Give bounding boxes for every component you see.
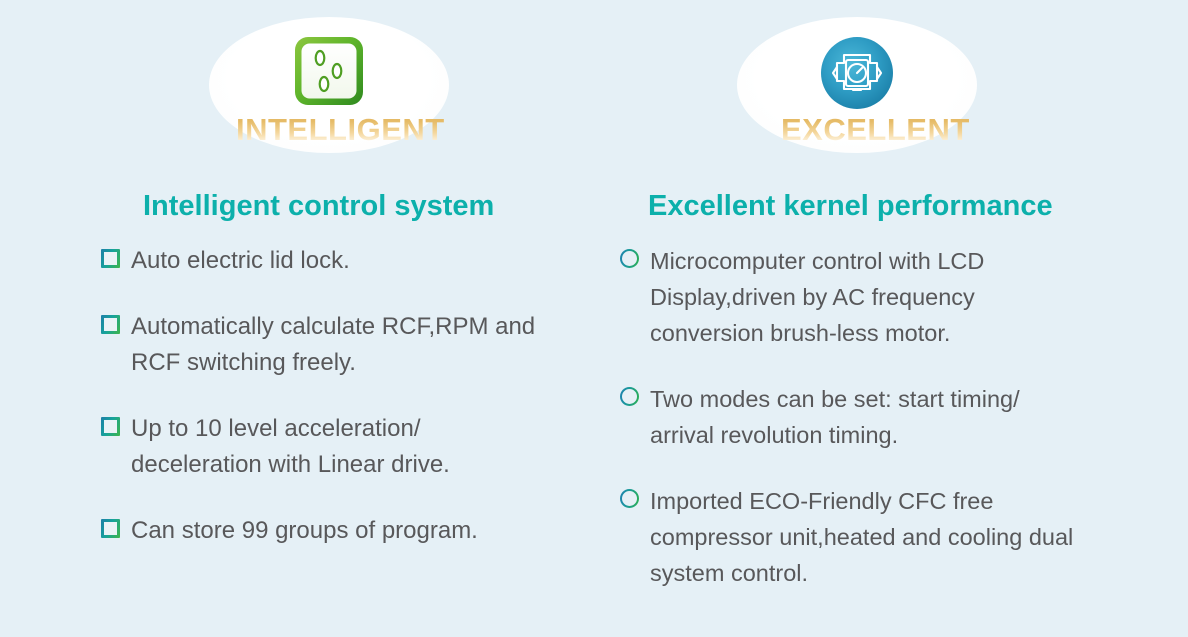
list-item: Auto electric lid lock.	[101, 243, 551, 279]
list-item: Two modes can be set: start timing/ arri…	[620, 381, 1090, 453]
feature-column-excellent: EXCELLENT Excellent kernel performance M…	[594, 0, 1188, 637]
circle-bullet-icon	[620, 249, 639, 268]
column-heading-excellent: Excellent kernel performance	[648, 190, 1053, 223]
list-item: Up to 10 level acceleration/ deceleratio…	[101, 411, 551, 483]
badge-intelligent: INTELLIGENT	[0, 0, 594, 178]
square-bullet-icon	[101, 249, 120, 268]
feature-highlights-banner: INTELLIGENT Intelligent control system A…	[0, 0, 1188, 637]
feature-text: Auto electric lid lock.	[131, 243, 350, 279]
list-item: Can store 99 groups of program.	[101, 513, 551, 549]
gauge-performance-icon	[817, 33, 897, 113]
badge-excellent: EXCELLENT	[594, 0, 1188, 178]
feature-text: Two modes can be set: start timing/ arri…	[650, 381, 1090, 453]
square-bullet-icon	[101, 315, 120, 334]
column-heading-intelligent: Intelligent control system	[143, 190, 494, 223]
feature-text: Up to 10 level acceleration/ deceleratio…	[131, 411, 551, 483]
list-item: Microcomputer control with LCD Display,d…	[620, 243, 1090, 351]
badge-word-intelligent: INTELLIGENT	[236, 112, 445, 148]
badge-word-excellent: EXCELLENT	[781, 112, 970, 148]
sliders-settings-icon	[289, 33, 369, 113]
circle-bullet-icon	[620, 489, 639, 508]
feature-list-excellent: Microcomputer control with LCD Display,d…	[620, 243, 1090, 591]
feature-text: Imported ECO-Friendly CFC free compresso…	[650, 483, 1090, 591]
square-bullet-icon	[101, 519, 120, 538]
list-item: Imported ECO-Friendly CFC free compresso…	[620, 483, 1090, 591]
feature-column-intelligent: INTELLIGENT Intelligent control system A…	[0, 0, 594, 637]
feature-text: Can store 99 groups of program.	[131, 513, 478, 549]
feature-list-intelligent: Auto electric lid lock. Automatically ca…	[101, 243, 551, 549]
circle-bullet-icon	[620, 387, 639, 406]
square-bullet-icon	[101, 417, 120, 436]
feature-text: Automatically calculate RCF,RPM and RCF …	[131, 309, 551, 381]
feature-text: Microcomputer control with LCD Display,d…	[650, 243, 1090, 351]
list-item: Automatically calculate RCF,RPM and RCF …	[101, 309, 551, 381]
